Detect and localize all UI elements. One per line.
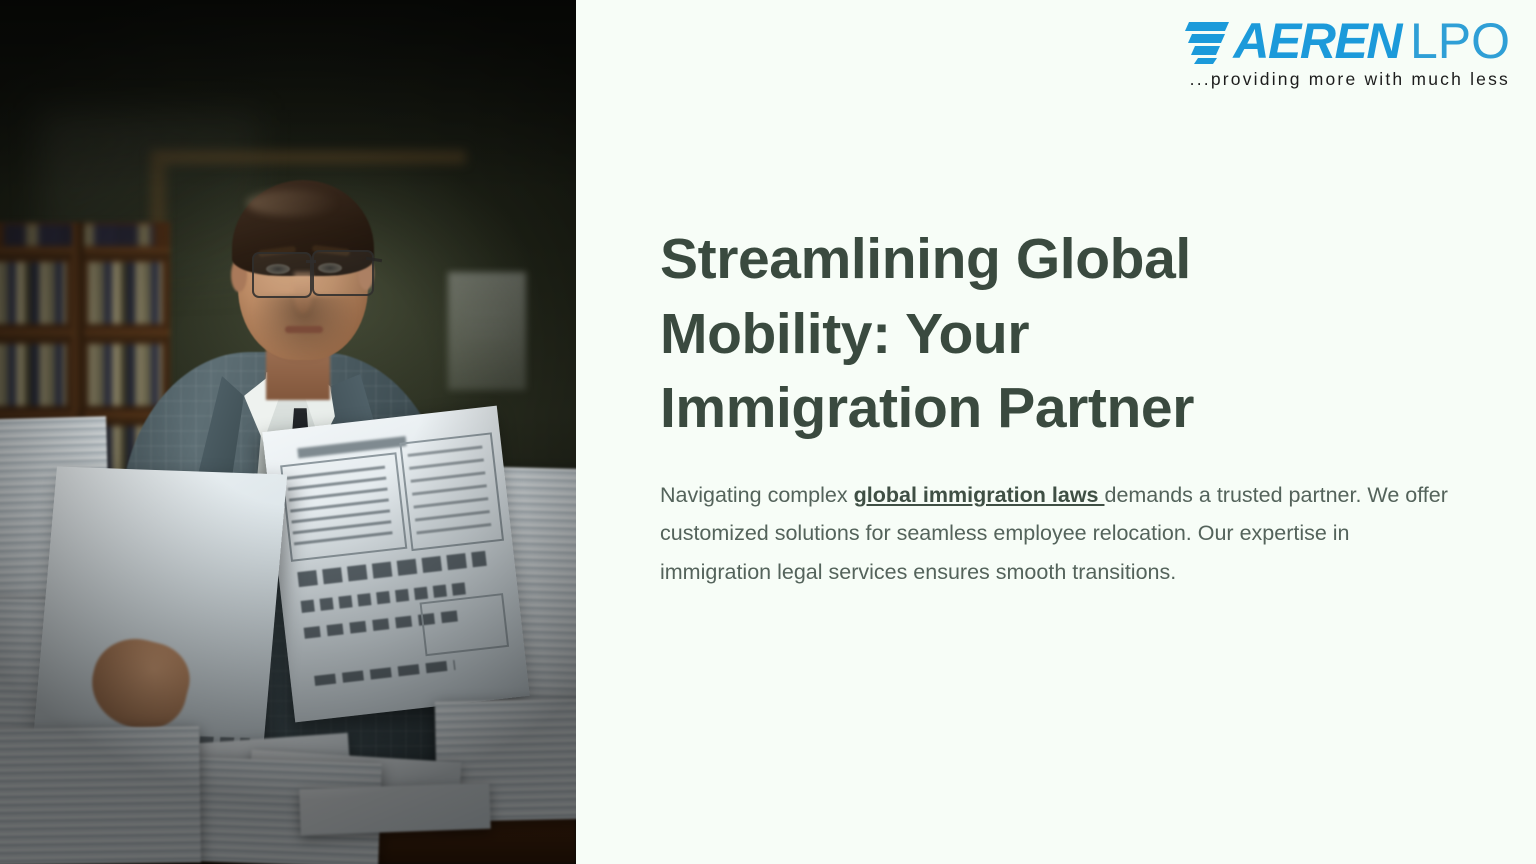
photo-loose-sheet bbox=[299, 783, 490, 836]
hero-photo bbox=[0, 0, 576, 864]
slide-root: AEREN LPO ...providing more with much le… bbox=[0, 0, 1536, 864]
body-paragraph: Navigating complex global immigration la… bbox=[660, 476, 1460, 591]
brand-logo-row: AEREN LPO bbox=[1150, 8, 1510, 64]
glasses-lens-left-icon bbox=[252, 252, 312, 298]
content-column: Streamlining Global Mobility: Your Immig… bbox=[660, 222, 1460, 591]
photo-subject-mouth bbox=[285, 326, 323, 333]
page-title: Streamlining Global Mobility: Your Immig… bbox=[660, 222, 1360, 446]
photo-wall-notice bbox=[448, 272, 526, 390]
brand-suffix: LPO bbox=[1410, 18, 1510, 64]
photo-paper-stack bbox=[0, 726, 201, 864]
brand-name: AEREN bbox=[1233, 18, 1401, 64]
body-text-before: Navigating complex bbox=[660, 483, 854, 507]
brand-tagline: ...providing more with much less bbox=[1150, 69, 1510, 90]
brand-logo[interactable]: AEREN LPO ...providing more with much le… bbox=[1150, 8, 1510, 90]
glasses-lens-right-icon bbox=[312, 250, 374, 296]
body-emphasis-link[interactable]: global immigration laws bbox=[854, 483, 1105, 507]
glasses-bridge bbox=[306, 260, 316, 263]
aeren-bars-icon bbox=[1185, 18, 1237, 64]
photo-held-form-document bbox=[262, 406, 530, 723]
